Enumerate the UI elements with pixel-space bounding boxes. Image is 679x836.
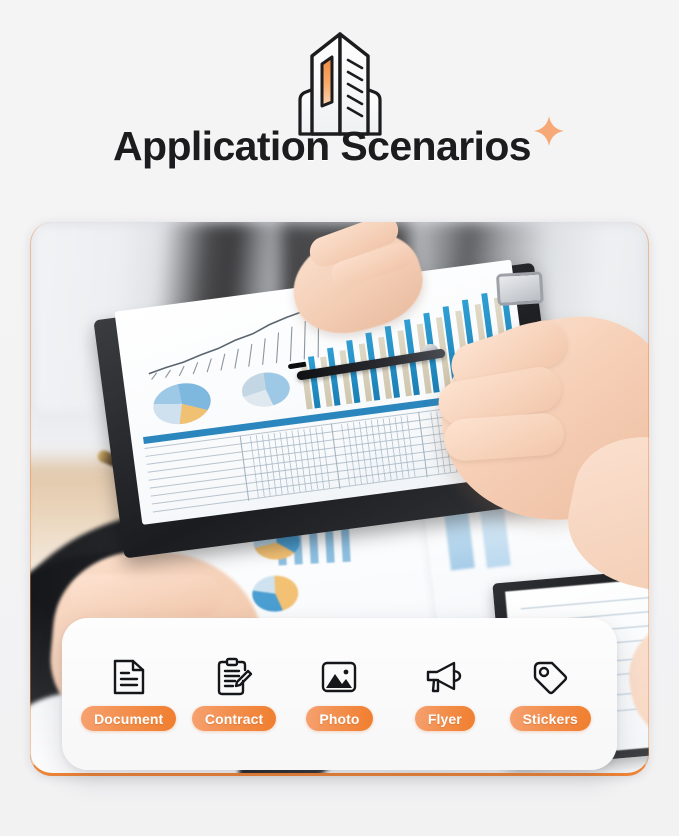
category-label-stickers[interactable]: Stickers — [510, 706, 591, 731]
building-icon — [280, 30, 400, 136]
category-contract[interactable]: Contract — [182, 657, 286, 731]
scenario-category-card: Document Contract — [62, 618, 617, 770]
application-scenarios-page: Application Scenarios — [0, 0, 679, 836]
table-cell-hatch — [250, 426, 331, 497]
doc-pie — [251, 574, 299, 612]
table-cell-hatch — [341, 415, 418, 486]
pie-chart-2 — [240, 370, 292, 410]
document-icon — [109, 657, 149, 697]
category-photo[interactable]: Photo — [287, 657, 391, 731]
folder-clip-upper — [496, 271, 544, 306]
category-label-photo[interactable]: Photo — [306, 706, 372, 731]
category-flyer[interactable]: Flyer — [393, 657, 497, 731]
category-document[interactable]: Document — [77, 657, 181, 731]
tag-icon — [530, 657, 570, 697]
photo-icon — [319, 657, 359, 697]
category-label-flyer[interactable]: Flyer — [415, 706, 475, 731]
sparkle-icon — [532, 114, 566, 153]
page-title: Application Scenarios — [113, 126, 531, 167]
page-title-row: Application Scenarios — [0, 126, 679, 167]
category-label-contract[interactable]: Contract — [192, 706, 276, 731]
building-logo — [0, 30, 679, 136]
finger — [443, 412, 566, 462]
hand-knuckle — [70, 574, 222, 618]
category-stickers[interactable]: Stickers — [498, 657, 602, 731]
contract-icon — [214, 657, 254, 697]
page-header: Application Scenarios — [0, 0, 679, 208]
megaphone-icon — [425, 657, 465, 697]
paper-line — [521, 594, 649, 609]
category-label-document[interactable]: Document — [81, 706, 176, 731]
pie-chart-1 — [150, 378, 215, 429]
